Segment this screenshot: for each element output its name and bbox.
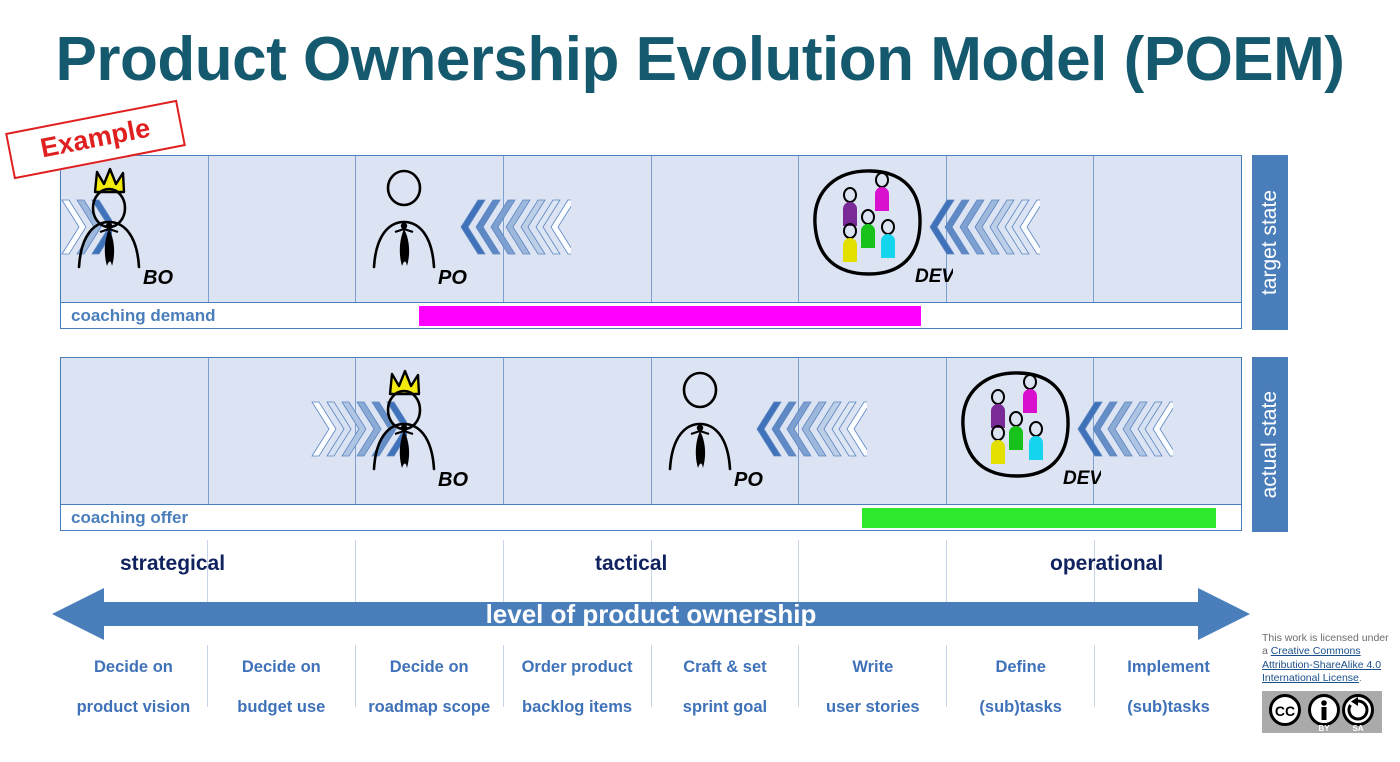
task-4-line1: Order product xyxy=(522,657,633,677)
target-cell-3[interactable]: PO xyxy=(356,156,504,302)
task-cell-7[interactable]: Define(sub)tasks xyxy=(947,645,1095,707)
actual-dev-figure: DEV xyxy=(951,364,1101,501)
task-3-line2: roadmap scope xyxy=(368,697,490,717)
level-label-operational: operational xyxy=(1050,552,1163,576)
svg-text:BO: BO xyxy=(438,469,468,491)
target-cell-5[interactable] xyxy=(652,156,800,302)
target-state-tab: target state xyxy=(1252,155,1288,330)
actual-cell-1[interactable] xyxy=(61,358,209,504)
dev-team-figure-icon: DEV xyxy=(951,364,1101,496)
task-label-row: Decide onproduct vision Decide onbudget … xyxy=(60,645,1242,707)
actual-bo-figure: BO xyxy=(360,364,468,501)
product-owner-figure-icon: PO xyxy=(656,364,764,496)
task-cell-3[interactable]: Decide onroadmap scope xyxy=(356,645,504,707)
task-8-line2: (sub)tasks xyxy=(1127,697,1210,717)
task-cell-8[interactable]: Implement(sub)tasks xyxy=(1095,645,1242,707)
target-po-chevrons xyxy=(458,196,571,263)
actual-state-grid: BO PO DEV xyxy=(60,357,1242,505)
actual-cell-5[interactable]: PO xyxy=(652,358,800,504)
business-owner-figure-icon: BO xyxy=(65,162,173,294)
task-2-line1: Decide on xyxy=(237,657,325,677)
actual-state-tab-label: actual state xyxy=(1258,391,1282,498)
svg-text:PO: PO xyxy=(734,469,763,491)
target-cell-6[interactable]: DEV xyxy=(799,156,947,302)
coaching-demand-bar xyxy=(419,306,921,326)
coaching-offer-bar xyxy=(862,508,1217,528)
task-cell-6[interactable]: Writeuser stories xyxy=(799,645,947,707)
chevron-group-left-icon xyxy=(458,196,571,258)
target-dev-figure: DEV xyxy=(803,162,953,299)
task-cell-4[interactable]: Order productbacklog items xyxy=(504,645,652,707)
license-link[interactable]: Creative Commons Attribution-ShareAlike … xyxy=(1262,645,1381,684)
creative-commons-badge-icon: CC BY SA xyxy=(1262,691,1382,733)
task-7-line2: (sub)tasks xyxy=(979,697,1062,717)
dev-team-figure-icon: DEV xyxy=(803,162,953,294)
task-2-line2: budget use xyxy=(237,697,325,717)
svg-text:PO: PO xyxy=(438,267,467,289)
chevron-group-left-icon xyxy=(754,398,867,460)
target-cell-1[interactable]: BO xyxy=(61,156,209,302)
task-8-line1: Implement xyxy=(1127,657,1210,677)
license-text: This work is licensed under a Creative C… xyxy=(1262,632,1394,686)
svg-text:SA: SA xyxy=(1352,724,1363,733)
task-cell-1[interactable]: Decide onproduct vision xyxy=(60,645,208,707)
task-5-line1: Craft & set xyxy=(683,657,767,677)
task-5-line2: sprint goal xyxy=(683,697,767,717)
actual-cell-3[interactable]: BO xyxy=(356,358,504,504)
level-of-product-ownership-axis: level of product ownership xyxy=(52,588,1250,640)
actual-po-figure: PO xyxy=(656,364,764,501)
svg-text:DEV: DEV xyxy=(1063,468,1101,489)
target-bo-figure: BO xyxy=(65,162,173,299)
coaching-offer-label: coaching offer xyxy=(61,508,188,528)
coaching-offer-strip: coaching offer xyxy=(60,505,1242,531)
task-cell-5[interactable]: Craft & setsprint goal xyxy=(652,645,800,707)
target-state-board: BO PO DEV coaching demand xyxy=(60,155,1242,329)
level-label-strategical: strategical xyxy=(120,552,225,576)
level-label-tactical: tactical xyxy=(595,552,667,576)
target-cell-2[interactable] xyxy=(209,156,357,302)
product-owner-figure-icon: PO xyxy=(360,162,468,294)
svg-text:BO: BO xyxy=(143,267,173,289)
svg-text:BY: BY xyxy=(1318,724,1330,733)
business-owner-figure-icon: BO xyxy=(360,364,468,496)
license-suffix: . xyxy=(1359,672,1362,684)
page-title: Product Ownership Evolution Model (POEM) xyxy=(0,24,1400,95)
actual-cell-4[interactable] xyxy=(504,358,652,504)
actual-po-chevrons xyxy=(754,398,867,465)
target-cell-8[interactable] xyxy=(1094,156,1241,302)
svg-text:DEV: DEV xyxy=(915,266,953,287)
svg-text:CC: CC xyxy=(1275,703,1295,719)
actual-state-board: BO PO DEV coaching offer xyxy=(60,357,1242,531)
coaching-demand-strip: coaching demand xyxy=(60,303,1242,329)
task-7-line1: Define xyxy=(979,657,1062,677)
target-state-tab-label: target state xyxy=(1258,190,1282,295)
double-arrow-icon xyxy=(52,588,1250,640)
task-3-line1: Decide on xyxy=(368,657,490,677)
license-block: This work is licensed under a Creative C… xyxy=(1262,632,1394,738)
cc-badge: CC BY SA xyxy=(1262,691,1394,738)
task-4-line2: backlog items xyxy=(522,697,633,717)
task-1-line2: product vision xyxy=(77,697,191,717)
target-po-figure: PO xyxy=(360,162,468,299)
coaching-demand-label: coaching demand xyxy=(61,306,216,326)
target-state-grid: BO PO DEV xyxy=(60,155,1242,303)
task-6-line2: user stories xyxy=(826,697,920,717)
actual-cell-7[interactable]: DEV xyxy=(947,358,1095,504)
actual-state-tab: actual state xyxy=(1252,357,1288,532)
task-6-line1: Write xyxy=(826,657,920,677)
task-cell-2[interactable]: Decide onbudget use xyxy=(208,645,356,707)
task-1-line1: Decide on xyxy=(77,657,191,677)
